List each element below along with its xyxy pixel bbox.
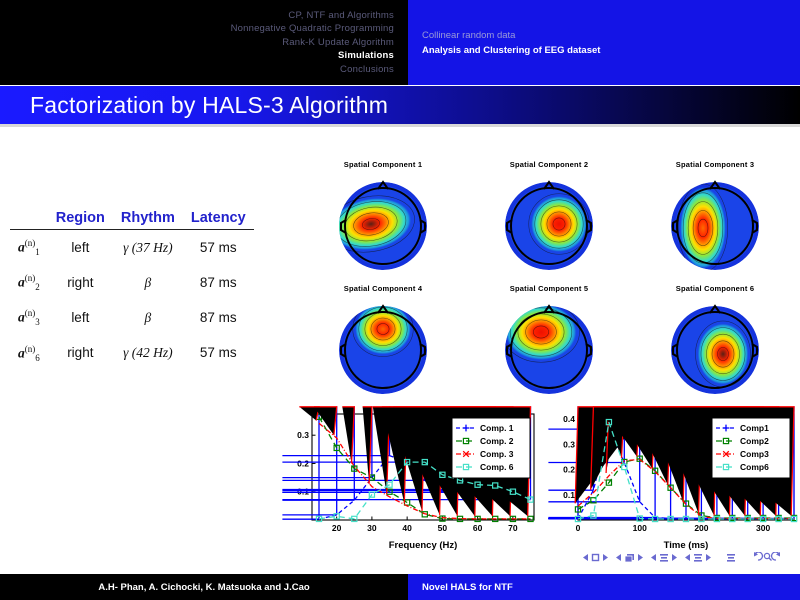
svg-text:Comp. 1: Comp. 1: [480, 423, 514, 433]
col-header-latency: Latency: [183, 210, 254, 230]
temporal-profile-chart: 01002003000.10.20.30.4Time (ms)Comp1Comp…: [548, 406, 800, 554]
row-symbol: a(n)1: [10, 230, 48, 266]
table-row: a(n)6 right γ (42 Hz) 57 ms: [10, 336, 254, 371]
topographic-map-icon: [331, 172, 435, 276]
topographic-map-icon: [331, 296, 435, 400]
slide-canvas: CP, NTF and Algorithms Nonnegative Quadr…: [0, 0, 800, 600]
scalp-cell-4: Spatial Component 4: [300, 284, 466, 400]
svg-text:Comp1: Comp1: [740, 423, 769, 433]
prev-frame-triangle-icon[interactable]: [615, 553, 622, 562]
cell-rhythm: γ (37 Hz): [113, 230, 183, 266]
svg-text:300: 300: [756, 523, 770, 533]
footer-subject: Novel HALS for NTF: [408, 574, 800, 600]
cell-latency: 87 ms: [183, 265, 254, 300]
subnav-item-collinear-random-data[interactable]: Collinear random data: [422, 28, 800, 43]
row-symbol: a(n)3: [10, 300, 48, 335]
table-header-row: Region Rhythm Latency: [10, 210, 254, 230]
row-symbol: a(n)2: [10, 265, 48, 300]
svg-text:Comp2: Comp2: [740, 436, 769, 446]
svg-text:Time (ms): Time (ms): [664, 540, 709, 551]
svg-text:0.1: 0.1: [563, 490, 575, 500]
presentation-outline-icon[interactable]: [726, 553, 736, 563]
scalp-cell-1: Spatial Component 1: [300, 160, 466, 276]
cell-region: right: [48, 336, 113, 371]
next-frame-triangle-icon[interactable]: [637, 553, 644, 562]
title-bar: Factorization by HALS-3 Algorithm: [0, 86, 800, 124]
svg-text:60: 60: [473, 523, 483, 533]
section-navigation-group[interactable]: [684, 553, 712, 563]
cell-latency: 57 ms: [183, 336, 254, 371]
col-header-region: Region: [48, 210, 113, 230]
prev-section-triangle-icon[interactable]: [684, 553, 691, 562]
next-subsection-triangle-icon[interactable]: [671, 553, 678, 562]
nav-item-cp-ntf-and-algorithms[interactable]: CP, NTF and Algorithms: [288, 9, 394, 23]
subsection-navigation-group[interactable]: [650, 553, 678, 563]
scalp-cell-2: Spatial Component 2: [466, 160, 632, 276]
svg-text:40: 40: [402, 523, 412, 533]
svg-text:200: 200: [694, 523, 708, 533]
scalp-row-top: Spatial Component 1 Spatial Component 2: [300, 160, 800, 276]
svg-text:Comp6: Comp6: [740, 462, 769, 472]
svg-text:Comp. 2: Comp. 2: [480, 436, 514, 446]
col-header-symbol: [10, 210, 48, 230]
frequency-spectrum-chart: 2030405060700.10.20.3Frequency (Hz)Comp.…: [282, 406, 540, 554]
footer-authors: A.H- Phan, A. Cichocki, K. Matsuoka and …: [0, 574, 408, 600]
cell-rhythm: γ (42 Hz): [113, 336, 183, 371]
frame-navigation-group[interactable]: [615, 553, 644, 563]
beamer-navigation-symbols: [582, 552, 784, 563]
subsection-navigation: Collinear random data Analysis and Clust…: [408, 0, 800, 85]
svg-text:Comp. 6: Comp. 6: [480, 462, 514, 472]
svg-text:0: 0: [576, 523, 581, 533]
cell-rhythm: β: [113, 265, 183, 300]
prev-slide-triangle-icon[interactable]: [582, 553, 589, 562]
frame-stack-icon[interactable]: [624, 553, 635, 563]
nav-item-simulations[interactable]: Simulations: [338, 49, 394, 63]
spatial-components-grid: Spatial Component 1 Spatial Component 2: [300, 160, 800, 400]
svg-text:Comp. 3: Comp. 3: [480, 449, 514, 459]
scalp-title: Spatial Component 4: [344, 284, 422, 293]
scalp-cell-5: Spatial Component 5: [466, 284, 632, 400]
cell-region: right: [48, 265, 113, 300]
cell-region: left: [48, 300, 113, 335]
scalp-title: Spatial Component 5: [510, 284, 588, 293]
scalp-title: Spatial Component 2: [510, 160, 588, 169]
table-row: a(n)2 right β 87 ms: [10, 265, 254, 300]
table-row: a(n)1 left γ (37 Hz) 57 ms: [10, 230, 254, 266]
slide-footer: A.H- Phan, A. Cichocki, K. Matsuoka and …: [0, 574, 800, 600]
subnav-item-analysis-and-clustering-of-eeg-dataset[interactable]: Analysis and Clustering of EEG dataset: [422, 43, 800, 58]
section-navigation: CP, NTF and Algorithms Nonnegative Quadr…: [0, 0, 408, 85]
table-body: a(n)1 left γ (37 Hz) 57 ms a(n)2 right β…: [10, 230, 254, 371]
svg-text:100: 100: [633, 523, 647, 533]
svg-text:0.2: 0.2: [563, 465, 575, 475]
slide-square-icon[interactable]: [591, 553, 600, 562]
col-header-rhythm: Rhythm: [113, 210, 183, 230]
back-search-forward-icons[interactable]: [750, 552, 784, 563]
svg-text:70: 70: [508, 523, 518, 533]
svg-text:30: 30: [367, 523, 377, 533]
scalp-cell-3: Spatial Component 3: [632, 160, 798, 276]
nav-item-nonnegative-quadratic-programming[interactable]: Nonnegative Quadratic Programming: [231, 22, 394, 36]
topographic-map-icon: [497, 172, 601, 276]
component-parameters-table: Region Rhythm Latency a(n)1 left γ (37 H…: [10, 210, 295, 371]
scalp-title: Spatial Component 1: [344, 160, 422, 169]
svg-text:0.3: 0.3: [297, 430, 309, 440]
cell-rhythm: β: [113, 300, 183, 335]
svg-text:50: 50: [438, 523, 448, 533]
scalp-title: Spatial Component 3: [676, 160, 754, 169]
section-lines-icon[interactable]: [693, 553, 703, 563]
svg-text:Comp3: Comp3: [740, 449, 769, 459]
page-title: Factorization by HALS-3 Algorithm: [0, 92, 388, 119]
slide-header: CP, NTF and Algorithms Nonnegative Quadr…: [0, 0, 800, 85]
table-row: a(n)3 left β 87 ms: [10, 300, 254, 335]
subsection-lines-icon[interactable]: [659, 553, 669, 563]
scalp-row-bottom: Spatial Component 4 Spatial Component 5: [300, 284, 800, 400]
slide-navigation-group[interactable]: [582, 553, 609, 562]
topographic-map-icon: [663, 172, 767, 276]
svg-text:0.2: 0.2: [297, 458, 309, 468]
next-section-triangle-icon[interactable]: [705, 553, 712, 562]
cell-latency: 57 ms: [183, 230, 254, 266]
svg-text:20: 20: [332, 523, 342, 533]
nav-item-conclusions[interactable]: Conclusions: [340, 63, 394, 77]
scalp-title: Spatial Component 6: [676, 284, 754, 293]
row-symbol: a(n)6: [10, 336, 48, 371]
svg-text:0.4: 0.4: [563, 414, 575, 424]
cell-latency: 87 ms: [183, 300, 254, 335]
nav-item-rank-k-update-algorithm[interactable]: Rank-K Update Algorithm: [282, 36, 394, 50]
svg-text:0.3: 0.3: [563, 439, 575, 449]
title-underline: [0, 124, 800, 127]
next-slide-triangle-icon[interactable]: [602, 553, 609, 562]
cell-region: left: [48, 230, 113, 266]
scalp-cell-6: Spatial Component 6: [632, 284, 798, 400]
prev-subsection-triangle-icon[interactable]: [650, 553, 657, 562]
topographic-map-icon: [497, 296, 601, 400]
svg-text:Frequency (Hz): Frequency (Hz): [389, 540, 458, 551]
topographic-map-icon: [663, 296, 767, 400]
